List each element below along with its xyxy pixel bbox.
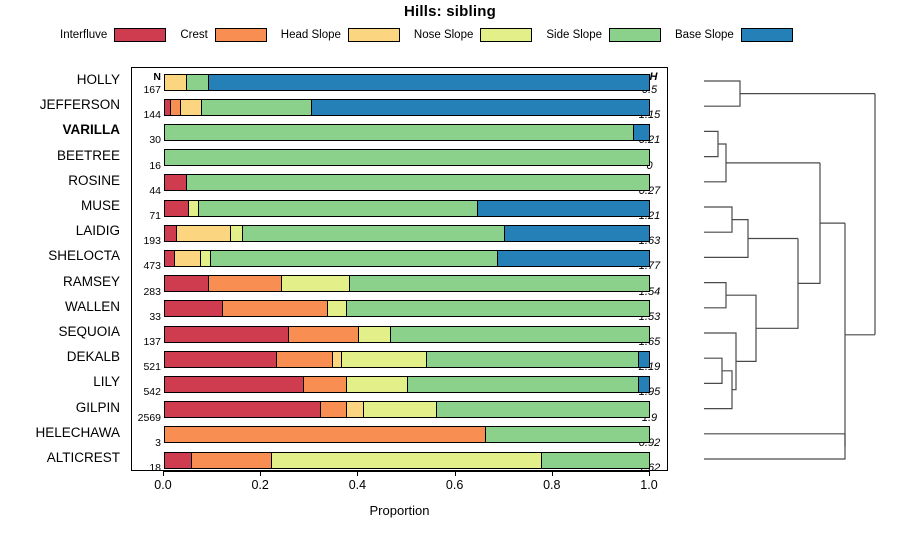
- bar-segment-crest: [304, 377, 348, 392]
- chart-root: Hills: sibling InterfluveCrestHead Slope…: [0, 0, 900, 540]
- x-axis-tick: [552, 471, 553, 476]
- y-axis-label-varilla: VARILLA: [0, 122, 120, 137]
- row-n-value: 144: [132, 109, 161, 121]
- row-n-value: 44: [132, 185, 161, 197]
- bar-segment-interfluve: [165, 402, 321, 417]
- legend-label: Base Slope: [675, 29, 734, 41]
- y-axis-label-rosine: ROSINE: [0, 173, 120, 188]
- y-axis-label-beetree: BEETREE: [0, 148, 120, 163]
- y-axis-label-laidig: LAIDIG: [0, 223, 120, 238]
- bar-segment-side-slope: [347, 301, 650, 316]
- legend-swatch: [348, 28, 400, 42]
- row-n-value: 193: [132, 235, 161, 247]
- legend-entry: Interfluve: [60, 28, 166, 42]
- stacked-bar-row: [164, 99, 650, 116]
- bar-segment-base-slope: [498, 251, 650, 266]
- y-axis-label-lily: LILY: [0, 374, 120, 389]
- x-axis-tick: [455, 471, 456, 476]
- dendrogram: [700, 67, 900, 471]
- y-axis-label-muse: MUSE: [0, 198, 120, 213]
- legend-label: Crest: [180, 29, 207, 41]
- row-n-value: 16: [132, 160, 161, 172]
- bar-segment-head-slope: [181, 100, 203, 115]
- legend-entry: Head Slope: [281, 28, 400, 42]
- legend-label: Side Slope: [546, 29, 602, 41]
- bar-segment-interfluve: [165, 301, 223, 316]
- bar-segment-nose-slope: [347, 377, 408, 392]
- bar-segment-nose-slope: [359, 327, 391, 342]
- legend-label: Head Slope: [281, 29, 341, 41]
- legend-label: Interfluve: [60, 29, 107, 41]
- bar-segment-interfluve: [165, 377, 304, 392]
- legend-entry: Side Slope: [546, 28, 661, 42]
- stacked-bar-row: [164, 275, 650, 292]
- bar-segment-side-slope: [350, 276, 650, 291]
- bar-segment-side-slope: [187, 75, 209, 90]
- bars-layer: 1670.51441.15300.21160440.27711.211931.6…: [132, 68, 667, 470]
- bar-segment-head-slope: [333, 352, 343, 367]
- x-axis-line: [163, 471, 649, 472]
- bar-segment-nose-slope: [328, 301, 347, 316]
- stacked-bar-row: [164, 326, 650, 343]
- row-n-value: 33: [132, 311, 161, 323]
- bar-segment-interfluve: [165, 226, 177, 241]
- bar-segment-side-slope: [165, 125, 634, 140]
- stacked-bar-row: [164, 74, 650, 91]
- y-axis-label-wallen: WALLEN: [0, 299, 120, 314]
- stacked-bar-row: [164, 300, 650, 317]
- legend-entry: Nose Slope: [414, 28, 532, 42]
- stacked-bar-row: [164, 452, 650, 469]
- legend-swatch: [480, 28, 532, 42]
- x-axis-tick: [357, 471, 358, 476]
- row-n-value: 30: [132, 134, 161, 146]
- stacked-bar-row: [164, 200, 650, 217]
- bar-segment-side-slope: [187, 175, 650, 190]
- row-n-value: 473: [132, 260, 161, 272]
- y-axis-label-gilpin: GILPIN: [0, 400, 120, 415]
- y-axis-label-dekalb: DEKALB: [0, 349, 120, 364]
- bar-segment-base-slope: [634, 125, 650, 140]
- bar-segment-side-slope: [202, 100, 311, 115]
- bar-segment-head-slope: [165, 75, 187, 90]
- bar-segment-interfluve: [165, 251, 175, 266]
- y-axis-label-sequoia: SEQUOIA: [0, 324, 120, 339]
- bar-segment-side-slope: [542, 453, 650, 468]
- bar-segment-nose-slope: [364, 402, 437, 417]
- stacked-bar-row: [164, 174, 650, 191]
- x-axis-tick: [163, 471, 164, 476]
- bar-segment-head-slope: [177, 226, 230, 241]
- row-n-value: 71: [132, 210, 161, 222]
- stacked-bar-plot-panel: N H 1670.51441.15300.21160440.27711.2119…: [131, 67, 668, 471]
- bar-segment-interfluve: [165, 201, 189, 216]
- bar-segment-crest: [209, 276, 282, 291]
- bar-segment-crest: [171, 100, 181, 115]
- x-axis-tick-label: 0.6: [435, 478, 475, 492]
- x-axis: 0.00.20.40.60.81.0: [131, 471, 668, 501]
- stacked-bar-row: [164, 376, 650, 393]
- bar-segment-head-slope: [347, 402, 364, 417]
- legend-label: Nose Slope: [414, 29, 473, 41]
- y-axis-label-shelocta: SHELOCTA: [0, 248, 120, 263]
- bar-segment-side-slope: [437, 402, 650, 417]
- bar-segment-side-slope: [165, 150, 650, 165]
- x-axis-title: Proportion: [131, 503, 668, 518]
- x-axis-tick: [260, 471, 261, 476]
- x-axis-tick-label: 0.8: [532, 478, 572, 492]
- legend-swatch: [741, 28, 793, 42]
- bar-segment-interfluve: [165, 453, 192, 468]
- stacked-bar-row: [164, 401, 650, 418]
- bar-segment-nose-slope: [282, 276, 350, 291]
- bar-segment-interfluve: [165, 327, 289, 342]
- x-axis-tick: [649, 471, 650, 476]
- stacked-bar-row: [164, 225, 650, 242]
- row-n-value: 2569: [132, 412, 161, 424]
- stacked-bar-row: [164, 250, 650, 267]
- x-axis-tick-label: 0.0: [143, 478, 183, 492]
- bar-segment-base-slope: [478, 201, 650, 216]
- legend-swatch: [609, 28, 661, 42]
- dendrogram-links: [704, 81, 875, 459]
- bar-segment-nose-slope: [189, 201, 199, 216]
- bar-segment-base-slope: [639, 352, 650, 367]
- x-axis-tick-label: 1.0: [629, 478, 669, 492]
- bar-segment-nose-slope: [272, 453, 542, 468]
- y-axis-label-jefferson: JEFFERSON: [0, 97, 120, 112]
- bar-segment-side-slope: [427, 352, 638, 367]
- legend-entry: Base Slope: [675, 28, 793, 42]
- legend-swatch: [215, 28, 267, 42]
- row-n-value: 137: [132, 336, 161, 348]
- legend: InterfluveCrestHead SlopeNose SlopeSide …: [60, 26, 850, 44]
- bar-segment-crest: [321, 402, 348, 417]
- bar-segment-interfluve: [165, 352, 277, 367]
- row-n-value: 283: [132, 286, 161, 298]
- bar-segment-crest: [289, 327, 359, 342]
- row-n-value: 167: [132, 84, 161, 96]
- bar-segment-base-slope: [209, 75, 650, 90]
- x-axis-tick-label: 0.2: [240, 478, 280, 492]
- bar-segment-nose-slope: [342, 352, 427, 367]
- stacked-bar-row: [164, 426, 650, 443]
- y-axis-label-ramsey: RAMSEY: [0, 274, 120, 289]
- bar-segment-nose-slope: [201, 251, 211, 266]
- y-axis-label-alticrest: ALTICREST: [0, 450, 120, 465]
- row-n-value: 542: [132, 386, 161, 398]
- dendrogram-svg: [700, 67, 900, 471]
- bar-segment-side-slope: [243, 226, 505, 241]
- bar-segment-crest: [223, 301, 327, 316]
- row-n-value: 3: [132, 437, 161, 449]
- legend-swatch: [114, 28, 166, 42]
- stacked-bar-row: [164, 124, 650, 141]
- bar-segment-interfluve: [165, 175, 187, 190]
- bar-segment-head-slope: [175, 251, 202, 266]
- bar-segment-side-slope: [211, 251, 498, 266]
- stacked-bar-row: [164, 149, 650, 166]
- row-n-value: 521: [132, 361, 161, 373]
- y-axis-label-helechawa: HELECHAWA: [0, 425, 120, 440]
- bar-segment-base-slope: [505, 226, 650, 241]
- bar-segment-side-slope: [486, 427, 650, 442]
- bar-segment-base-slope: [312, 100, 650, 115]
- bar-segment-side-slope: [391, 327, 650, 342]
- bar-segment-side-slope: [199, 201, 478, 216]
- stacked-bar-row: [164, 351, 650, 368]
- page-title: Hills: sibling: [0, 3, 900, 20]
- bar-segment-base-slope: [639, 377, 650, 392]
- bar-segment-nose-slope: [231, 226, 243, 241]
- legend-entry: Crest: [180, 28, 266, 42]
- bar-segment-side-slope: [408, 377, 639, 392]
- bar-segment-crest: [192, 453, 272, 468]
- bar-segment-interfluve: [165, 276, 209, 291]
- bar-segment-crest: [165, 427, 486, 442]
- bar-segment-crest: [277, 352, 333, 367]
- x-axis-tick-label: 0.4: [337, 478, 377, 492]
- y-axis-label-holly: HOLLY: [0, 72, 120, 87]
- y-axis-labels: HOLLYJEFFERSONVARILLABEETREEROSINEMUSELA…: [0, 67, 126, 471]
